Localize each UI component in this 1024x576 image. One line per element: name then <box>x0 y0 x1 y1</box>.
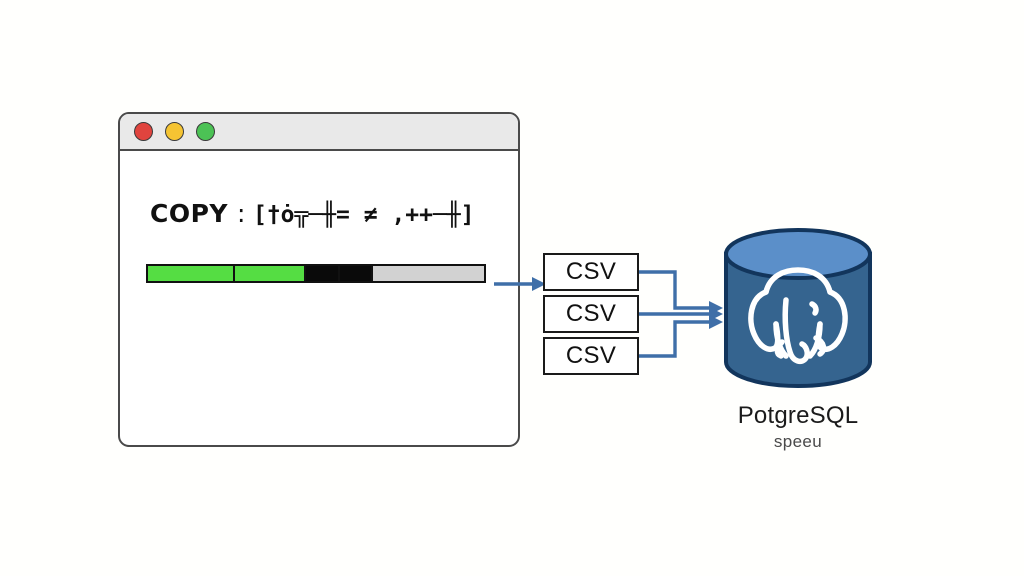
csv-box-label: CSV <box>566 258 616 286</box>
csv-box-label: CSV <box>566 342 616 370</box>
progress-segment <box>373 266 484 281</box>
csv-file-box[interactable]: CSV <box>543 295 639 333</box>
csv-file-box[interactable]: CSV <box>543 253 639 291</box>
database-sublabel: speeu <box>700 432 896 452</box>
copy-progress-bar <box>146 264 486 283</box>
terminal-window: COPY:[†ȯ╦─╫= ≠ ,++─╫] <box>118 112 520 447</box>
copy-command-line: COPY:[†ȯ╦─╫= ≠ ,++─╫] <box>150 199 475 228</box>
progress-segment <box>235 266 306 281</box>
copy-colon: : <box>228 199 253 228</box>
close-button[interactable] <box>134 122 153 141</box>
window-titlebar <box>120 114 518 151</box>
postgresql-database-icon <box>722 228 874 388</box>
copy-argument: [†ȯ╦─╫= ≠ ,++─╫] <box>253 202 475 228</box>
maximize-button[interactable] <box>196 122 215 141</box>
progress-segment <box>340 266 374 281</box>
csv-box-label: CSV <box>566 300 616 328</box>
copy-keyword: COPY <box>150 199 228 228</box>
converging-arrows-icon <box>639 250 729 380</box>
terminal-body: COPY:[†ȯ╦─╫= ≠ ,++─╫] <box>120 151 518 445</box>
progress-segment <box>306 266 340 281</box>
minimize-button[interactable] <box>165 122 184 141</box>
diagram-canvas: COPY:[†ȯ╦─╫= ≠ ,++─╫] CSV CSV CSV <box>0 0 1024 576</box>
progress-segment <box>148 266 235 281</box>
csv-file-box[interactable]: CSV <box>543 337 639 375</box>
feed-arrow-icon <box>494 272 548 296</box>
database-label: PotgreSQL <box>700 402 896 430</box>
